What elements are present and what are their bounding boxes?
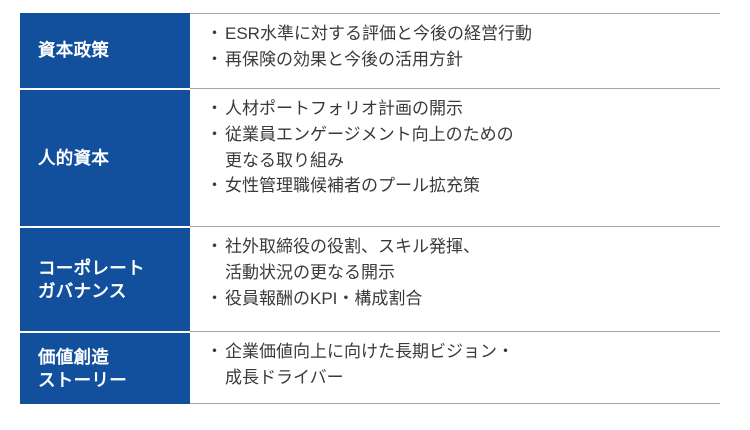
list-item-text: 企業価値向上に向けた長期ビジョン・ [225, 339, 720, 365]
list-item: ・ 役員報酬のKPI・構成割合 [206, 286, 720, 312]
table-row: 人的資本 ・ 人材ポートフォリオ計画の開示 ・ 従業員エンゲージメント向上のため… [20, 88, 720, 226]
bullet-icon: ・ [206, 173, 225, 199]
list-item-text: 活動状況の更なる開示 [225, 260, 720, 286]
row-content-corporate-governance: ・ 社外取締役の役割、スキル発揮、 活動状況の更なる開示 ・ 役員報酬のKPI・… [190, 226, 720, 331]
list-item: ・ 社外取締役の役割、スキル発揮、 [206, 234, 720, 260]
list-item-continuation: 活動状況の更なる開示 [206, 260, 720, 286]
list-item: ・ 女性管理職候補者のプール拡充策 [206, 173, 720, 199]
themes-table: 資本政策 ・ ESR水準に対する評価と今後の経営行動 ・ 再保険の効果と今後の活… [20, 13, 720, 404]
row-content-human-capital: ・ 人材ポートフォリオ計画の開示 ・ 従業員エンゲージメント向上のための 更なる… [190, 88, 720, 226]
bullet-icon: ・ [206, 21, 225, 47]
list-item-continuation: 成長ドライバー [206, 365, 720, 391]
bullet-icon: ・ [206, 234, 225, 260]
bullet-icon: ・ [206, 96, 225, 122]
list-item: ・ 再保険の効果と今後の活用方針 [206, 47, 720, 73]
list-item-text: 従業員エンゲージメント向上のための [225, 122, 720, 148]
list-item-text: 女性管理職候補者のプール拡充策 [225, 173, 720, 199]
list-item: ・ ESR水準に対する評価と今後の経営行動 [206, 21, 720, 47]
bullet-icon: ・ [206, 339, 225, 365]
bullet-icon: ・ [206, 122, 225, 148]
bullet-list: ・ 社外取締役の役割、スキル発揮、 活動状況の更なる開示 ・ 役員報酬のKPI・… [206, 234, 720, 311]
bullet-list: ・ 人材ポートフォリオ計画の開示 ・ 従業員エンゲージメント向上のための 更なる… [206, 96, 720, 199]
list-item-text: 人材ポートフォリオ計画の開示 [225, 96, 720, 122]
row-content-value-creation-story: ・ 企業価値向上に向けた長期ビジョン・ 成長ドライバー [190, 331, 720, 404]
row-label-text: 人的資本 [38, 147, 109, 169]
row-label-text: 資本政策 [38, 39, 109, 61]
bullet-list: ・ ESR水準に対する評価と今後の経営行動 ・ 再保険の効果と今後の活用方針 [206, 21, 720, 73]
list-item-text: 再保険の効果と今後の活用方針 [225, 47, 720, 73]
bullet-list: ・ 企業価値向上に向けた長期ビジョン・ 成長ドライバー [206, 339, 720, 391]
list-item-text: 役員報酬のKPI・構成割合 [225, 286, 720, 312]
row-label-corporate-governance: コーポレート ガバナンス [20, 226, 190, 331]
row-content-capital-policy: ・ ESR水準に対する評価と今後の経営行動 ・ 再保険の効果と今後の活用方針 [190, 13, 720, 88]
list-item: ・ 人材ポートフォリオ計画の開示 [206, 96, 720, 122]
list-item-continuation: 更なる取り組み [206, 148, 720, 174]
row-label-text: 価値創造 ストーリー [38, 346, 127, 391]
table-row: 資本政策 ・ ESR水準に対する評価と今後の経営行動 ・ 再保険の効果と今後の活… [20, 13, 720, 88]
row-label-value-creation-story: 価値創造 ストーリー [20, 331, 190, 404]
bullet-icon: ・ [206, 286, 225, 312]
list-item-text: 更なる取り組み [225, 148, 720, 174]
table-row: コーポレート ガバナンス ・ 社外取締役の役割、スキル発揮、 活動状況の更なる開… [20, 226, 720, 331]
list-item-text: 社外取締役の役割、スキル発揮、 [225, 234, 720, 260]
row-label-human-capital: 人的資本 [20, 88, 190, 226]
list-item-text: 成長ドライバー [225, 365, 720, 391]
row-label-capital-policy: 資本政策 [20, 13, 190, 88]
table-row: 価値創造 ストーリー ・ 企業価値向上に向けた長期ビジョン・ 成長ドライバー [20, 331, 720, 404]
list-item: ・ 企業価値向上に向けた長期ビジョン・ [206, 339, 720, 365]
list-item: ・ 従業員エンゲージメント向上のための [206, 122, 720, 148]
list-item-text: ESR水準に対する評価と今後の経営行動 [225, 21, 720, 47]
row-label-text: コーポレート ガバナンス [38, 257, 145, 302]
bullet-icon: ・ [206, 47, 225, 73]
